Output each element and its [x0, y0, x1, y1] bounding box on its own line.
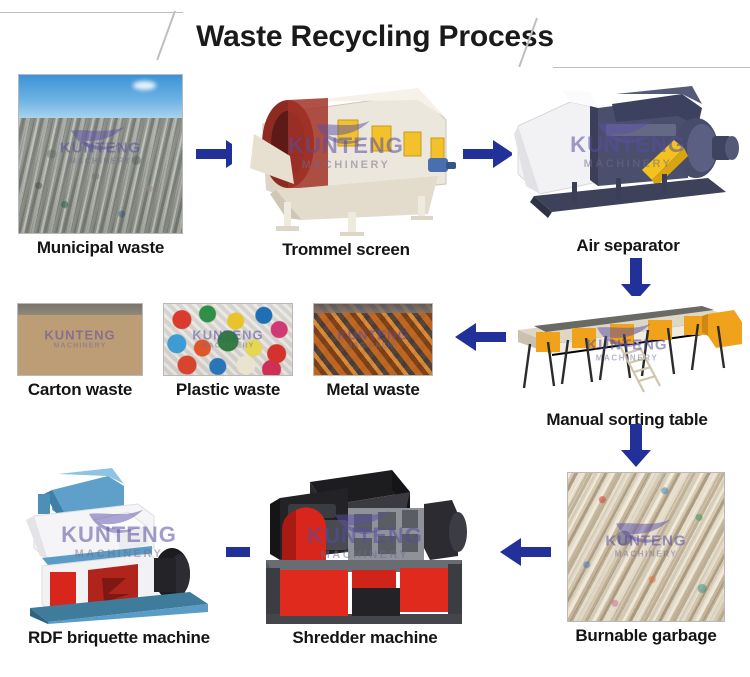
label-shredder-machine: Shredder machine — [252, 628, 478, 648]
flowchart-canvas: Waste Recycling Process KUNTENG MACHINER… — [0, 0, 750, 677]
air-separator-machine: KUNTENG MACHINERY — [512, 74, 744, 232]
label-metal-waste: Metal waste — [313, 380, 433, 400]
trommel-screen-machine: KUNTENG MACHINERY — [232, 72, 460, 236]
label-air-separator: Air separator — [512, 236, 744, 256]
municipal-waste-photo: KUNTENG MACHINERY — [18, 74, 183, 234]
header: Waste Recycling Process — [0, 0, 750, 78]
sky-band — [19, 75, 182, 118]
plastic-waste-photo: KUNTENG MACHINERY — [163, 303, 293, 376]
carton-waste-photo: KUNTENG MACHINERY — [17, 303, 143, 376]
air-separator-illustration — [512, 74, 744, 232]
arrow-down-icon — [619, 424, 653, 468]
arrow-sorting-table-to-metal — [452, 320, 506, 359]
carton-texture — [18, 304, 142, 375]
metal-texture — [314, 304, 432, 375]
plastic-texture — [164, 304, 292, 375]
node-manual-sorting-table[interactable]: KUNTENG MACHINERY Manual sorting table — [508, 296, 746, 430]
metal-waste-photo: KUNTENG MACHINERY — [313, 303, 433, 376]
node-trommel-screen[interactable]: KUNTENG MACHINERY Trommel screen — [232, 72, 460, 260]
page-title: Waste Recycling Process — [0, 20, 750, 54]
arrow-sorting-table-to-burnable — [619, 424, 653, 473]
briquette-machine: KUNTENG MACHINERY — [12, 462, 226, 624]
node-burnable-garbage[interactable]: KUNTENG MACHINERY Burnable garbage — [567, 472, 725, 646]
label-trommel-screen: Trommel screen — [232, 240, 460, 260]
label-rdf-briquette-machine: RDF briquette machine — [12, 628, 226, 648]
arrow-left-icon — [452, 320, 506, 354]
sorting-table-illustration — [508, 296, 746, 406]
node-metal-waste[interactable]: KUNTENG MACHINERY Metal waste — [313, 303, 433, 400]
trommel-screen-illustration — [232, 72, 460, 236]
arrow-left-icon — [497, 535, 551, 569]
header-rule-right — [553, 67, 750, 68]
node-plastic-waste[interactable]: KUNTENG MACHINERY Plastic waste — [163, 303, 293, 400]
label-plastic-waste: Plastic waste — [163, 380, 293, 400]
label-burnable-garbage: Burnable garbage — [567, 626, 725, 646]
burnable-garbage-photo: KUNTENG MACHINERY — [567, 472, 725, 622]
arrow-right-icon — [463, 137, 515, 171]
node-rdf-briquette-machine[interactable]: KUNTENG MACHINERY RDF briquette machine — [12, 462, 226, 648]
burnable-texture — [568, 473, 724, 621]
shredder-illustration — [252, 464, 478, 624]
shredder-machine: KUNTENG MACHINERY — [252, 464, 478, 624]
header-rule-left — [0, 12, 183, 13]
arrow-burnable-to-shredder — [497, 535, 551, 574]
node-air-separator[interactable]: KUNTENG MACHINERY Air separator — [512, 74, 744, 256]
arrow-trommel-to-air-separator — [463, 137, 515, 176]
sorting-table-machine: KUNTENG MACHINERY — [508, 296, 746, 406]
node-carton-waste[interactable]: KUNTENG MACHINERY Carton waste — [17, 303, 143, 400]
node-municipal-waste[interactable]: KUNTENG MACHINERY Municipal waste — [18, 74, 183, 258]
label-municipal-waste: Municipal waste — [18, 238, 183, 258]
briquette-illustration — [12, 462, 226, 624]
node-shredder-machine[interactable]: KUNTENG MACHINERY Shredder machine — [252, 464, 478, 648]
label-carton-waste: Carton waste — [17, 380, 143, 400]
